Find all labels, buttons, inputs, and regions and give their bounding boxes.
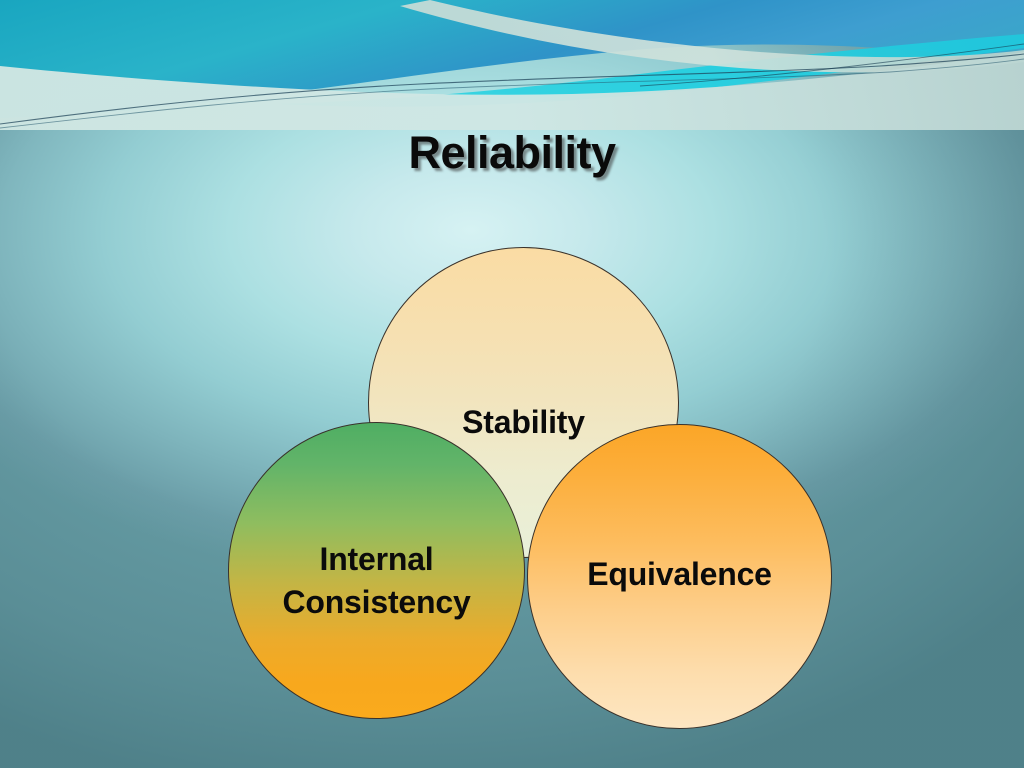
slide-canvas: Reliability Stability Internal Consisten… <box>0 0 1024 768</box>
venn-circle-internal-consistency[interactable]: Internal Consistency <box>228 422 525 719</box>
venn-label-equivalence: Equivalence <box>587 553 772 595</box>
venn-label-stability: Stability <box>462 401 585 443</box>
venn-circle-equivalence[interactable]: Equivalence <box>527 424 832 729</box>
reliability-venn-diagram: Stability Internal Consistency Equivalen… <box>0 0 1024 768</box>
venn-label-internal-consistency: Internal Consistency <box>282 538 470 622</box>
